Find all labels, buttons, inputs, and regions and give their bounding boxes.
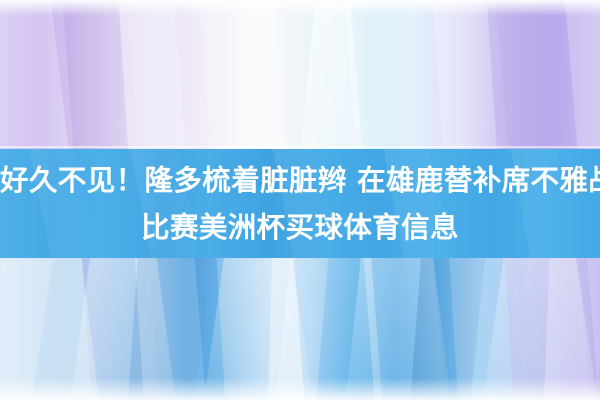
headline-line-1: 好久不见！隆多梳着脏脏辫 在雄鹿替补席不雅战 [0, 157, 600, 204]
bottom-edge-fade [0, 378, 600, 400]
banner-top-hairline [0, 146, 600, 148]
image-canvas: 好久不见！隆多梳着脏脏辫 在雄鹿替补席不雅战 比赛美洲杯买球体育信息 [0, 0, 600, 400]
headline-line-2: 比赛美洲杯买球体育信息 [0, 204, 600, 251]
background-top-gradient [0, 0, 600, 152]
top-edge-fade [0, 0, 600, 16]
headline-banner: 好久不见！隆多梳着脏脏辫 在雄鹿替补席不雅战 比赛美洲杯买球体育信息 [0, 149, 600, 258]
